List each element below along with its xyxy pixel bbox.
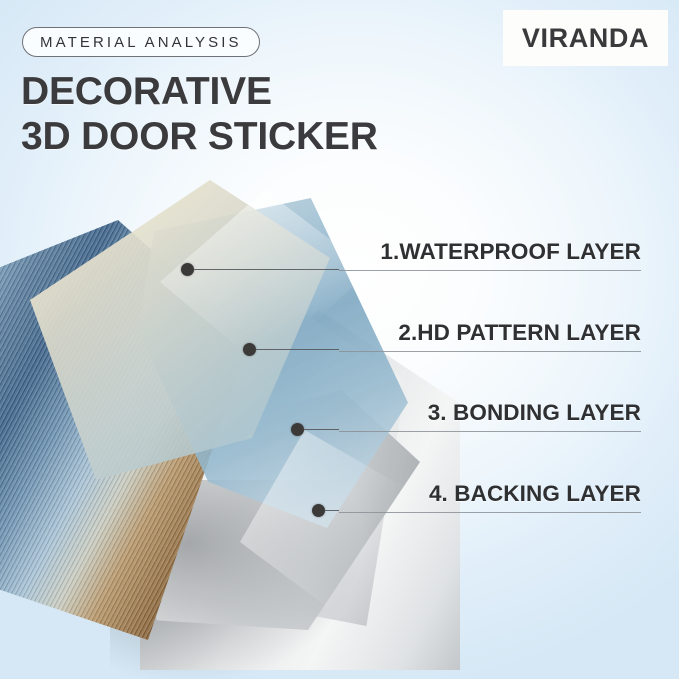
callout-dot-4 <box>312 504 325 517</box>
callout-label-2: 2.HD PATTERN LAYER <box>398 320 641 346</box>
callout-rule-3 <box>339 431 641 432</box>
callout-label-1: 1.WATERPROOF LAYER <box>380 239 641 265</box>
callout-leader-2 <box>256 349 339 350</box>
callout-dot-2 <box>243 343 256 356</box>
callout-2: 2.HD PATTERN LAYER <box>339 318 641 352</box>
callout-dot-3 <box>291 423 304 436</box>
callout-4: 4. BACKING LAYER <box>339 479 641 513</box>
callout-1: 1.WATERPROOF LAYER <box>339 237 641 271</box>
callout-leader-3 <box>304 429 339 430</box>
callout-rule-4 <box>339 512 641 513</box>
badge-label: MATERIAL ANALYSIS <box>40 34 242 51</box>
material-analysis-badge: MATERIAL ANALYSIS <box>22 27 260 57</box>
title-line-2: 3D DOOR STICKER <box>21 114 378 159</box>
callout-3: 3. BONDING LAYER <box>339 398 641 432</box>
callout-label-4: 4. BACKING LAYER <box>429 481 641 507</box>
material-analysis-infographic: MATERIAL ANALYSIS DECORATIVE 3D DOOR STI… <box>0 0 679 679</box>
callout-rule-2 <box>339 351 641 352</box>
brand-name: VIRANDA <box>522 23 649 54</box>
callout-rule-1 <box>339 270 641 271</box>
callout-label-3: 3. BONDING LAYER <box>428 400 641 426</box>
callout-leader-1 <box>194 269 339 270</box>
callout-dot-1 <box>181 263 194 276</box>
title-line-1: DECORATIVE <box>21 69 378 114</box>
callout-leader-4 <box>325 510 339 511</box>
page-title: DECORATIVE 3D DOOR STICKER <box>21 69 378 159</box>
brand-logo: VIRANDA <box>503 10 668 66</box>
